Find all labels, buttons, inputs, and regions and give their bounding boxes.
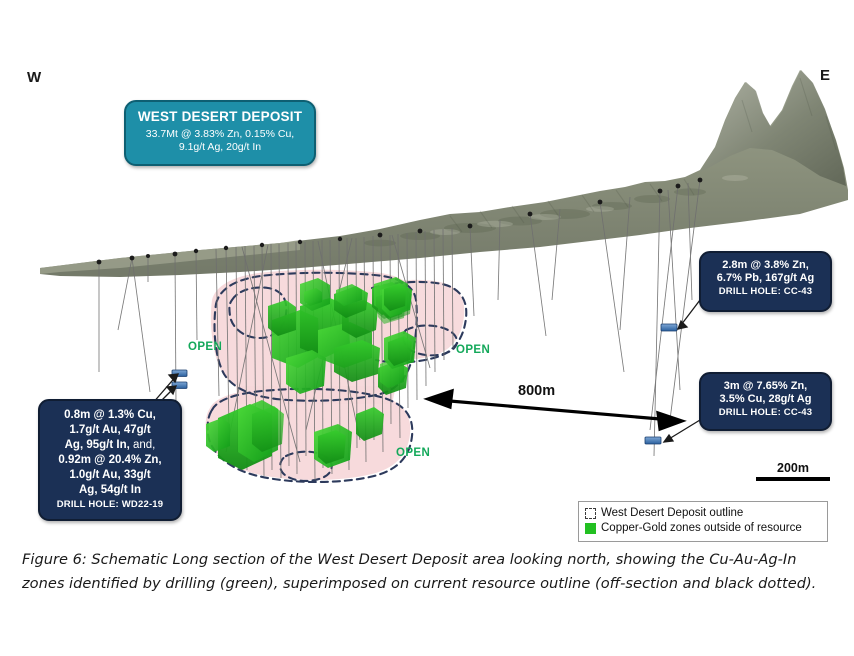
- open-label-west: OPEN: [188, 341, 222, 353]
- west-desert-deposit-callout: WEST DESERT DEPOSIT 33.7Mt @ 3.83% Zn, 0…: [124, 100, 316, 166]
- deposit-callout-line1: 33.7Mt @ 3.83% Zn, 0.15% Cu,: [132, 128, 308, 141]
- intercept-callout-cc43-bottom: 3m @ 7.65% Zn, 3.5% Cu, 28g/t Ag DRILL H…: [699, 372, 832, 431]
- legend-item-zones: Copper-Gold zones outside of resource: [585, 521, 821, 536]
- cc43-top-line1: 2.8m @ 3.8% Zn,: [706, 259, 825, 272]
- green-square-swatch-icon: [585, 523, 596, 534]
- wd2219-line1: 0.8m @ 1.3% Cu,: [45, 408, 175, 423]
- compass-west-label: W: [27, 69, 42, 86]
- wd2219-conjunction: and,: [130, 439, 156, 451]
- wd2219-line3: Ag, 95g/t In,: [65, 439, 130, 451]
- cc43-bottom-line1: 3m @ 7.65% Zn,: [706, 380, 825, 393]
- deposit-callout-title: WEST DESERT DEPOSIT: [132, 109, 308, 125]
- dashed-outline-swatch-icon: [585, 508, 596, 519]
- intercept-callout-wd2219: 0.8m @ 1.3% Cu, 1.7g/t Au, 47g/t Ag, 95g…: [38, 399, 182, 521]
- cc43-top-drill-hole: DRILL HOLE: CC-43: [706, 286, 825, 297]
- legend-item-zones-label: Copper-Gold zones outside of resource: [601, 521, 802, 536]
- wd2219-line6: Ag, 54g/t In: [45, 483, 175, 498]
- scale-bar-label: 200m: [756, 461, 830, 475]
- legend: West Desert Deposit outline Copper-Gold …: [578, 501, 828, 542]
- wd2219-line4: 0.92m @ 20.4% Zn,: [45, 453, 175, 468]
- wd2219-line5: 1.0g/t Au, 33g/t: [45, 468, 175, 483]
- legend-item-outline-label: West Desert Deposit outline: [601, 506, 743, 521]
- wd2219-drill-hole: DRILL HOLE: WD22-19: [45, 499, 175, 511]
- intercept-callout-cc43-top: 2.8m @ 3.8% Zn, 6.7% Pb, 167g/t Ag DRILL…: [699, 251, 832, 312]
- figure-canvas: W E WEST DESERT DEPOSIT 33.7Mt @ 3.83% Z…: [0, 0, 854, 540]
- cc43-bottom-drill-hole: DRILL HOLE: CC-43: [706, 407, 825, 418]
- legend-item-outline: West Desert Deposit outline: [585, 506, 821, 521]
- open-label-south: OPEN: [396, 447, 430, 459]
- cc43-top-line2: 6.7% Pb, 167g/t Ag: [706, 272, 825, 285]
- deposit-callout-line2: 9.1g/t Ag, 20g/t In: [132, 141, 308, 154]
- compass-east-label: E: [820, 67, 831, 84]
- open-label-east: OPEN: [456, 344, 490, 356]
- 800m-dimension-label: 800m: [518, 383, 555, 399]
- figure-caption: Figure 6: Schematic Long section of the …: [22, 548, 840, 595]
- scale-bar-line: [756, 477, 830, 481]
- 800m-dimension: 800m: [428, 383, 688, 419]
- wd2219-line2: 1.7g/t Au, 47g/t: [45, 423, 175, 438]
- scale-bar: 200m: [756, 461, 830, 481]
- cc43-bottom-line2: 3.5% Cu, 28g/t Ag: [706, 393, 825, 406]
- wd2219-line3-group: Ag, 95g/t In, and,: [45, 438, 175, 453]
